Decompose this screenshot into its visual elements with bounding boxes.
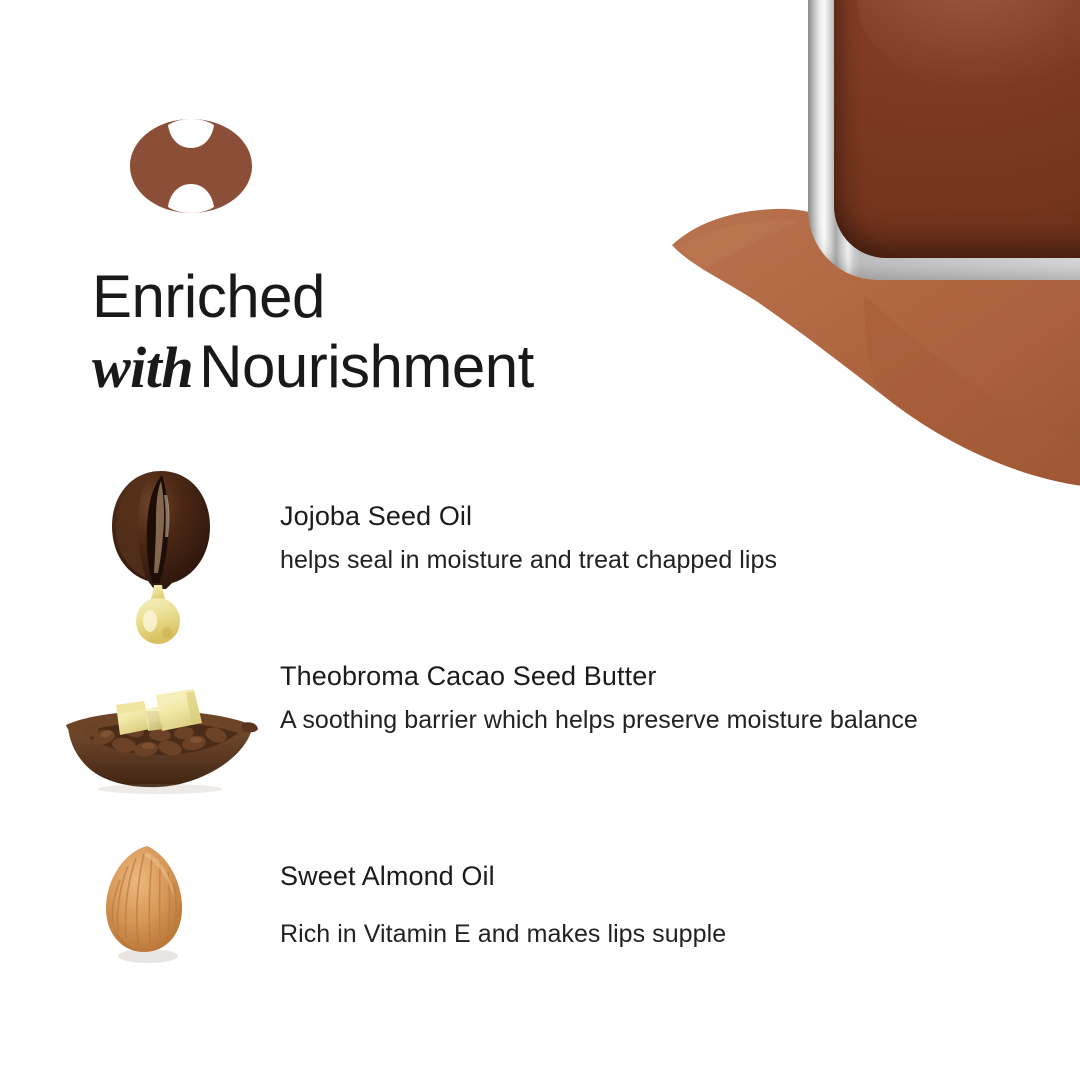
ingredient-description: A soothing barrier which helps preserve … (280, 704, 1060, 737)
ingredient-text: Theobroma Cacao Seed Butter A soothing b… (280, 650, 1060, 736)
jojoba-seed-with-oil-drop-icon (104, 469, 219, 644)
ingredient-description: helps seal in moisture and treat chapped… (280, 544, 1060, 577)
ingredient-description: Rich in Vitamin E and makes lips supple (280, 918, 1060, 951)
ingredient-list: Jojoba Seed Oil helps seal in moisture a… (60, 470, 1060, 1010)
hero-product-image (660, 0, 1080, 520)
ingredient-name: Jojoba Seed Oil (280, 500, 1060, 534)
ingredient-text: Sweet Almond Oil Rich in Vitamin E and m… (280, 830, 1060, 950)
headline-enriched: Enriched (92, 263, 325, 330)
ingredient-icon-slot (60, 830, 280, 1010)
ingredient-icon-slot (60, 650, 280, 830)
lip-balm-tin (808, 0, 1080, 280)
ingredient-name: Sweet Almond Oil (280, 860, 1060, 894)
headline-with: with (92, 335, 193, 400)
balm-product-fill (834, 0, 1080, 258)
headline-line-2: withNourishment (92, 332, 792, 402)
ingredient-name: Theobroma Cacao Seed Butter (280, 660, 1060, 694)
headline-nourishment: Nourishment (199, 333, 534, 400)
list-item: Theobroma Cacao Seed Butter A soothing b… (60, 650, 1060, 830)
ingredient-text: Jojoba Seed Oil helps seal in moisture a… (280, 470, 1060, 576)
list-item: Jojoba Seed Oil helps seal in moisture a… (60, 470, 1060, 650)
headline-line-1: Enriched (92, 262, 792, 332)
ingredient-infographic-page: Enriched withNourishment (0, 0, 1080, 1080)
page-title: Enriched withNourishment (92, 262, 792, 401)
brand-logo-icon (130, 119, 252, 213)
cacao-pod-with-cocoa-butter-icon (60, 675, 260, 795)
almond-icon (90, 840, 200, 970)
ingredient-icon-slot (60, 470, 280, 650)
list-item: Sweet Almond Oil Rich in Vitamin E and m… (60, 830, 1060, 1010)
tin-metal-rim (808, 0, 1080, 280)
